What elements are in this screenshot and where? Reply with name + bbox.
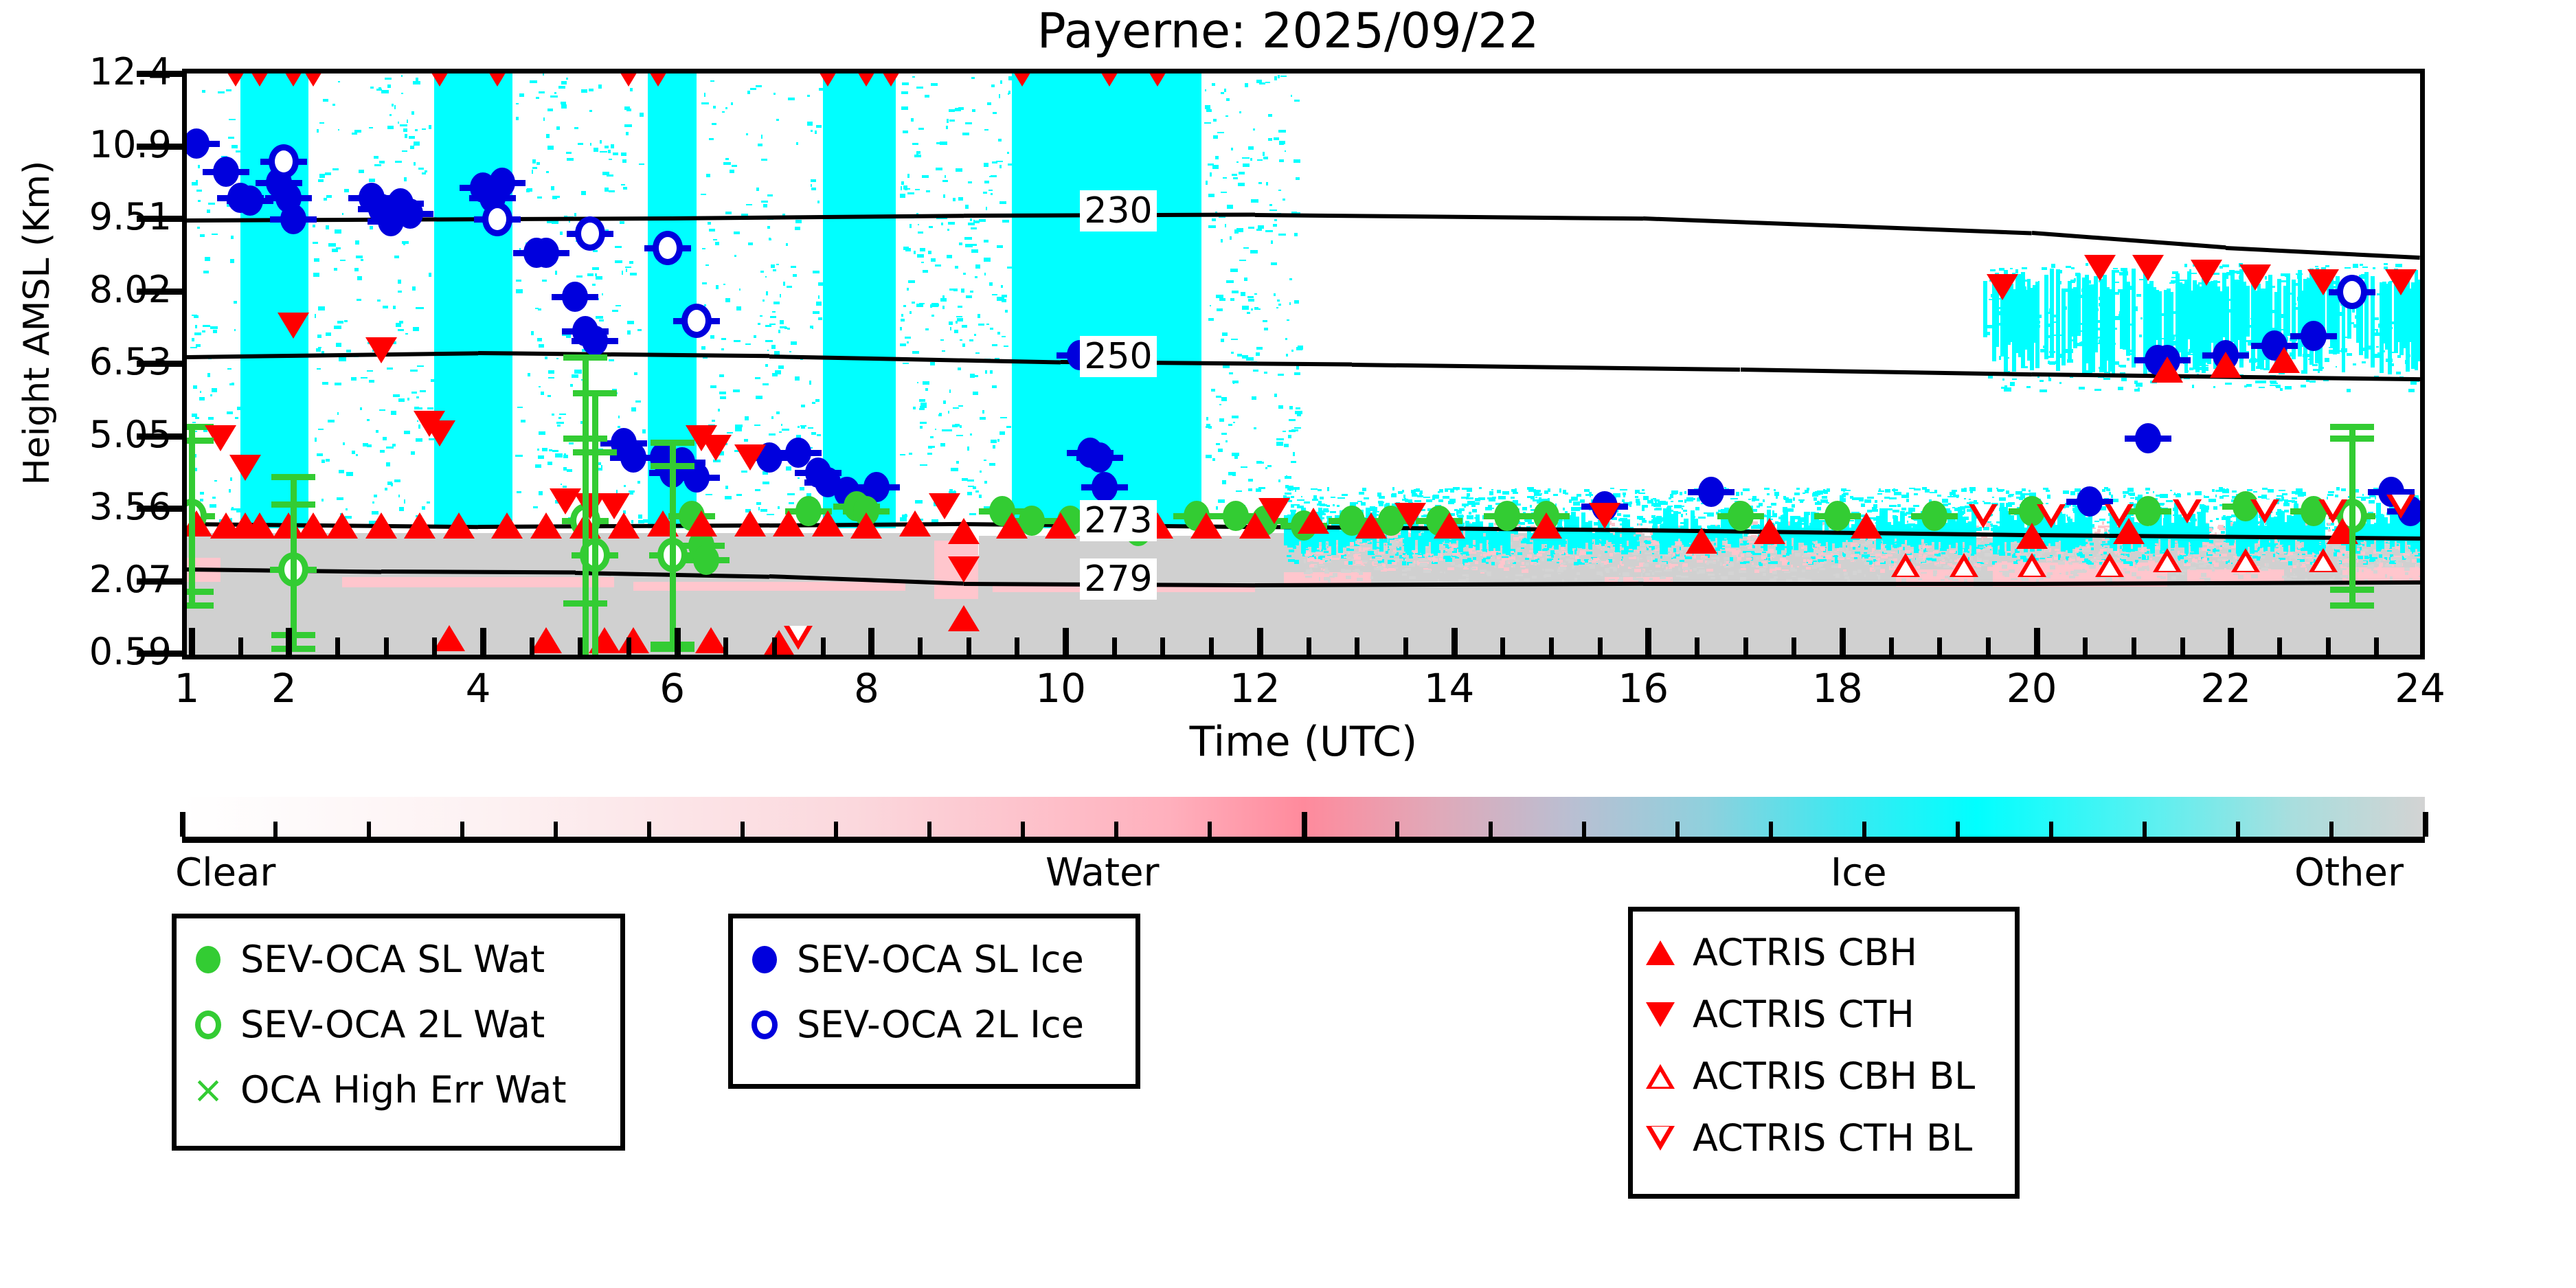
classification-speckle xyxy=(1263,320,1267,321)
classification-speckle xyxy=(2029,490,2031,491)
classification-speckle xyxy=(326,195,332,198)
classification-speckle xyxy=(746,204,752,205)
classification-speckle xyxy=(958,368,961,370)
classification-speckle xyxy=(721,348,724,350)
y-tick xyxy=(137,361,182,367)
classification-speckle xyxy=(901,186,902,190)
classification-speckle xyxy=(809,381,811,385)
classification-speckle xyxy=(1256,347,1263,350)
classification-speckle xyxy=(548,370,554,373)
classification-speckle xyxy=(370,87,374,88)
y-tick xyxy=(137,144,182,150)
classification-speckle xyxy=(555,271,557,274)
classification-speckle xyxy=(1298,346,1303,349)
classification-speckle xyxy=(725,158,729,160)
classification-speckle xyxy=(979,495,982,497)
classification-speckle xyxy=(758,144,762,147)
classification-speckle xyxy=(218,91,224,93)
classification-speckle xyxy=(542,448,547,451)
classification-speckle xyxy=(984,181,989,184)
classification-speckle xyxy=(411,451,415,455)
classification-speckle xyxy=(202,90,206,93)
classification-speckle xyxy=(962,343,966,347)
classification-speckle xyxy=(1635,496,1638,498)
classification-speckle xyxy=(817,434,821,436)
classification-speckle xyxy=(1794,516,1800,519)
classification-speckle xyxy=(755,377,760,379)
classification-speckle xyxy=(734,255,736,257)
classification-speckle xyxy=(948,411,949,414)
classification-speckle xyxy=(1579,553,1581,556)
classification-speckle xyxy=(1812,493,1818,497)
classification-speckle xyxy=(921,262,924,263)
classification-speckle xyxy=(228,137,234,139)
classification-speckle xyxy=(1274,137,1279,140)
classification-speckle xyxy=(2015,491,2022,495)
classification-speckle xyxy=(2361,552,2366,555)
classification-speckle xyxy=(212,388,217,392)
classification-speckle xyxy=(607,174,613,177)
classification-speckle xyxy=(1559,488,1562,493)
classification-speckle xyxy=(1864,499,1871,503)
classification-speckle xyxy=(369,127,373,128)
classification-speckle xyxy=(1956,496,1958,498)
classification-speckle xyxy=(1230,298,1235,301)
classification-speckle xyxy=(709,229,714,232)
classification-speckle xyxy=(776,264,779,265)
classification-speckle xyxy=(395,161,402,163)
classification-speckle xyxy=(1537,494,1541,495)
classification-speckle xyxy=(2061,567,2066,572)
x-tick-label: 2 xyxy=(229,665,339,712)
classification-speckle xyxy=(1952,490,1957,492)
classification-speckle xyxy=(956,461,958,464)
classification-speckle xyxy=(992,385,997,388)
x-tick-label: 14 xyxy=(1394,665,1504,712)
classification-speckle xyxy=(1213,119,1217,122)
classification-speckle xyxy=(787,493,795,495)
classification-speckle xyxy=(1274,76,1277,80)
classification-speckle xyxy=(363,443,368,446)
classification-speckle xyxy=(975,264,980,268)
classification-speckle xyxy=(1577,494,1581,497)
classification-speckle xyxy=(2309,381,2316,383)
classification-speckle xyxy=(1813,547,1816,549)
classification-speckle xyxy=(202,330,205,332)
classification-speckle xyxy=(818,295,820,300)
classification-speckle xyxy=(596,316,603,319)
classification-speckle xyxy=(2281,560,2287,562)
classification-speckle xyxy=(1534,557,1537,559)
classification-speckle xyxy=(996,161,1003,162)
classification-speckle xyxy=(422,172,425,174)
classification-speckle xyxy=(338,81,340,83)
classification-speckle xyxy=(962,325,967,328)
classification-speckle xyxy=(935,264,941,267)
classification-speckle xyxy=(234,301,237,304)
classification-speckle xyxy=(702,248,705,249)
classification-speckle xyxy=(734,340,741,342)
classification-speckle xyxy=(1949,510,1952,512)
classification-speckle xyxy=(321,499,323,501)
classification-speckle xyxy=(618,416,620,419)
classification-speckle xyxy=(701,194,706,195)
classification-speckle xyxy=(2216,518,2219,520)
classification-speckle xyxy=(2360,264,2363,266)
classification-speckle xyxy=(951,468,958,471)
classification-speckle xyxy=(705,494,712,496)
classification-speckle xyxy=(1226,98,1230,101)
classification-speckle xyxy=(1006,426,1011,428)
classification-speckle xyxy=(1676,490,1678,493)
classification-speckle xyxy=(624,485,626,487)
classification-speckle xyxy=(2103,378,2110,381)
classification-speckle xyxy=(800,425,806,427)
classification-speckle xyxy=(1584,489,1590,492)
classification-cell xyxy=(342,577,614,588)
classification-speckle xyxy=(622,271,623,275)
chart-canvas: Payerne: 2025/09/22 Height AMSL (Km) Tim… xyxy=(0,0,2576,1288)
classification-speckle xyxy=(782,429,789,431)
classification-cell xyxy=(434,74,512,528)
classification-speckle xyxy=(2335,495,2338,497)
classification-speckle xyxy=(2139,335,2142,337)
classification-speckle xyxy=(2127,492,2129,494)
classification-speckle xyxy=(952,425,958,427)
classification-speckle xyxy=(2195,493,2197,494)
classification-speckle xyxy=(767,194,773,196)
classification-speckle xyxy=(964,237,972,240)
classification-speckle xyxy=(354,268,359,272)
classification-speckle xyxy=(936,142,942,144)
classification-speckle xyxy=(1686,513,1687,515)
classification-speckle xyxy=(548,377,554,379)
classification-speckle xyxy=(984,481,987,484)
classification-speckle xyxy=(1491,489,1493,490)
classification-speckle xyxy=(1216,506,1218,509)
classification-speckle xyxy=(2150,558,2152,560)
classification-speckle xyxy=(599,319,604,321)
classification-speckle xyxy=(1225,224,1227,227)
classification-speckle xyxy=(919,399,925,402)
classification-speckle xyxy=(1970,490,1973,493)
classification-speckle xyxy=(578,143,583,144)
classification-speckle xyxy=(1278,405,1284,409)
classification-speckle xyxy=(903,363,909,364)
classification-speckle xyxy=(1280,76,1287,77)
classification-speckle xyxy=(1517,552,1522,555)
classification-speckle xyxy=(547,462,552,465)
classification-speckle xyxy=(618,426,620,428)
classification-speckle xyxy=(2372,558,2376,561)
classification-speckle xyxy=(538,455,544,459)
classification-speckle xyxy=(1243,163,1250,167)
classification-speckle xyxy=(192,182,198,185)
classification-speckle xyxy=(1622,556,1623,558)
classification-speckle xyxy=(569,442,574,444)
classification-speckle xyxy=(795,376,800,381)
classification-speckle xyxy=(352,451,355,454)
classification-speckle xyxy=(1276,307,1278,309)
classification-speckle xyxy=(930,362,935,365)
classification-speckle xyxy=(733,389,739,392)
classification-speckle xyxy=(1211,389,1214,391)
classification-speckle xyxy=(2006,490,2009,494)
classification-speckle xyxy=(1913,505,1919,508)
classification-speckle xyxy=(1885,489,1891,493)
classification-speckle xyxy=(2213,386,2215,388)
classification-speckle xyxy=(923,381,929,385)
classification-speckle xyxy=(1906,499,1909,502)
classification-speckle xyxy=(973,244,977,246)
classification-speckle xyxy=(780,320,784,324)
classification-speckle xyxy=(930,436,934,438)
classification-speckle xyxy=(2092,528,2095,529)
classification-speckle xyxy=(210,394,212,396)
classification-speckle xyxy=(908,280,915,283)
classification-speckle xyxy=(1370,558,1371,561)
classification-speckle xyxy=(229,119,236,121)
classification-speckle xyxy=(801,405,804,407)
classification-speckle xyxy=(2094,521,2099,522)
classification-speckle xyxy=(1277,300,1280,302)
classification-speckle xyxy=(907,192,914,195)
classification-speckle xyxy=(745,416,749,420)
classification-speckle xyxy=(208,417,214,420)
classification-speckle xyxy=(949,389,951,393)
classification-speckle xyxy=(196,190,202,192)
classification-speckle xyxy=(367,419,370,421)
classification-speckle xyxy=(949,120,956,122)
classification-speckle xyxy=(1901,508,1906,510)
classification-speckle xyxy=(756,188,759,192)
classification-speckle xyxy=(949,109,955,112)
classification-speckle xyxy=(1274,219,1277,221)
classification-speckle xyxy=(1764,488,1770,490)
classification-speckle xyxy=(1327,487,1329,491)
classification-speckle xyxy=(975,490,979,492)
classification-speckle xyxy=(1573,501,1580,505)
classification-speckle xyxy=(1238,183,1244,186)
classification-speckle xyxy=(2259,381,2266,383)
classification-speckle xyxy=(1906,493,1909,495)
classification-speckle xyxy=(1402,561,1407,565)
classification-speckle xyxy=(755,489,761,491)
classification-speckle xyxy=(1674,505,1682,509)
classification-speckle xyxy=(798,477,800,479)
classification-speckle xyxy=(192,414,197,416)
classification-speckle xyxy=(787,286,791,288)
classification-speckle xyxy=(975,221,980,223)
classification-speckle xyxy=(1225,440,1228,442)
classification-speckle xyxy=(788,98,795,100)
classification-speckle xyxy=(1763,499,1764,503)
classification-speckle xyxy=(192,422,196,423)
classification-speckle xyxy=(1252,396,1256,400)
classification-speckle xyxy=(563,486,567,488)
classification-speckle xyxy=(786,243,787,246)
classification-speckle xyxy=(1498,553,1501,554)
classification-speckle xyxy=(1937,495,1941,497)
classification-speckle xyxy=(1285,493,1291,495)
classification-speckle xyxy=(1840,495,1844,499)
classification-speckle xyxy=(1276,438,1283,441)
classification-speckle xyxy=(965,244,973,247)
classification-speckle xyxy=(1497,556,1501,559)
classification-speckle xyxy=(410,146,415,149)
classification-speckle xyxy=(1472,509,1477,512)
classification-speckle xyxy=(374,156,379,159)
classification-speckle xyxy=(317,368,321,370)
classification-speckle xyxy=(621,152,626,156)
classification-speckle xyxy=(900,194,905,198)
classification-speckle xyxy=(979,219,986,222)
classification-speckle xyxy=(1259,82,1265,84)
classification-speckle xyxy=(2088,563,2093,565)
classification-speckle xyxy=(2365,497,2371,498)
classification-speckle xyxy=(1816,556,1823,559)
classification-speckle xyxy=(715,242,719,245)
classification-speckle xyxy=(770,316,776,318)
classification-speckle xyxy=(1221,239,1223,242)
classification-speckle xyxy=(236,508,240,512)
classification-speckle xyxy=(1254,293,1257,295)
classification-speckle xyxy=(574,127,578,128)
classification-speckle xyxy=(907,174,909,177)
classification-speckle xyxy=(925,388,928,391)
classification-speckle xyxy=(574,213,577,216)
classification-speckle xyxy=(1231,148,1234,150)
classification-speckle xyxy=(1239,111,1241,114)
classification-speckle xyxy=(593,250,598,252)
classification-speckle xyxy=(642,429,646,433)
classification-speckle xyxy=(1689,499,1696,500)
classification-speckle xyxy=(414,162,416,166)
classification-speckle xyxy=(970,374,975,378)
classification-speckle xyxy=(1656,565,1660,568)
classification-speckle xyxy=(958,306,962,307)
classification-speckle xyxy=(2012,379,2016,380)
classification-speckle xyxy=(1768,562,1770,564)
classification-speckle xyxy=(1239,172,1245,174)
classification-speckle xyxy=(2040,380,2044,382)
classification-speckle xyxy=(1236,490,1241,492)
classification-speckle xyxy=(1782,569,1789,571)
classification-speckle xyxy=(2204,495,2205,497)
classification-speckle xyxy=(783,282,785,285)
classification-speckle xyxy=(1248,488,1252,491)
classification-speckle xyxy=(1232,174,1237,176)
classification-speckle xyxy=(1291,504,1295,508)
classification-speckle xyxy=(332,249,338,251)
classification-speckle xyxy=(574,370,582,374)
classification-speckle xyxy=(1475,561,1478,563)
classification-speckle xyxy=(947,255,952,258)
classification-speckle xyxy=(931,315,934,317)
classification-speckle xyxy=(712,420,715,422)
classification-speckle xyxy=(402,241,409,243)
classification-speckle xyxy=(1585,494,1592,497)
classification-speckle xyxy=(1344,556,1347,558)
classification-speckle xyxy=(1827,488,1830,492)
classification-speckle xyxy=(1251,308,1253,310)
classification-speckle xyxy=(1467,488,1472,492)
classification-speckle xyxy=(1269,210,1276,211)
classification-speckle xyxy=(762,383,769,385)
classification-speckle xyxy=(1251,199,1258,203)
classification-speckle xyxy=(2140,317,2143,319)
classification-speckle xyxy=(431,379,436,382)
classification-speckle xyxy=(736,306,741,310)
classification-speckle xyxy=(1296,365,1299,370)
classification-speckle xyxy=(398,280,401,284)
classification-speckle xyxy=(811,179,817,182)
classification-speckle xyxy=(791,266,796,269)
classification-speckle xyxy=(1629,501,1632,504)
classification-speckle xyxy=(566,78,568,80)
classification-speckle xyxy=(1964,498,1967,499)
classification-speckle xyxy=(901,314,904,317)
classification-speckle xyxy=(993,445,995,449)
classification-speckle xyxy=(1217,132,1224,133)
classification-speckle xyxy=(2345,267,2351,269)
classification-speckle xyxy=(993,112,997,114)
classification-speckle xyxy=(713,106,716,108)
classification-speckle xyxy=(992,344,997,346)
classification-speckle xyxy=(1657,519,1662,523)
classification-speckle xyxy=(956,435,963,437)
classification-speckle xyxy=(630,88,633,91)
classification-speckle xyxy=(393,306,396,309)
classification-speckle xyxy=(1748,499,1751,501)
classification-speckle xyxy=(539,431,545,435)
classification-speckle xyxy=(807,122,813,125)
classification-speckle xyxy=(2221,554,2227,556)
classification-speckle xyxy=(566,335,570,338)
classification-speckle xyxy=(1925,489,1929,493)
classification-speckle xyxy=(1242,306,1249,310)
classification-speckle xyxy=(923,270,927,273)
classification-speckle xyxy=(1488,505,1492,508)
classification-speckle xyxy=(379,409,385,411)
classification-speckle xyxy=(2109,492,2111,495)
classification-speckle xyxy=(566,152,572,154)
classification-speckle xyxy=(953,198,956,201)
classification-speckle xyxy=(1497,490,1502,493)
classification-speckle xyxy=(539,386,541,387)
classification-speckle xyxy=(754,425,760,426)
classification-speckle xyxy=(332,104,335,106)
classification-speckle xyxy=(1660,556,1662,558)
classification-speckle xyxy=(989,463,996,466)
classification-speckle xyxy=(2253,491,2258,493)
classification-speckle xyxy=(2364,556,2368,559)
classification-speckle xyxy=(1676,552,1679,554)
classification-speckle xyxy=(725,107,727,110)
classification-speckle xyxy=(971,227,976,229)
classification-speckle xyxy=(713,239,717,240)
classification-speckle xyxy=(722,111,725,113)
classification-speckle xyxy=(918,128,924,130)
classification-speckle xyxy=(2270,381,2276,383)
classification-speckle xyxy=(1814,497,1816,501)
classification-speckle xyxy=(1291,496,1294,498)
classification-speckle xyxy=(936,168,942,170)
classification-speckle xyxy=(313,242,319,244)
classification-speckle xyxy=(765,340,772,342)
classification-speckle xyxy=(1289,406,1293,409)
classification-speckle xyxy=(776,119,779,122)
